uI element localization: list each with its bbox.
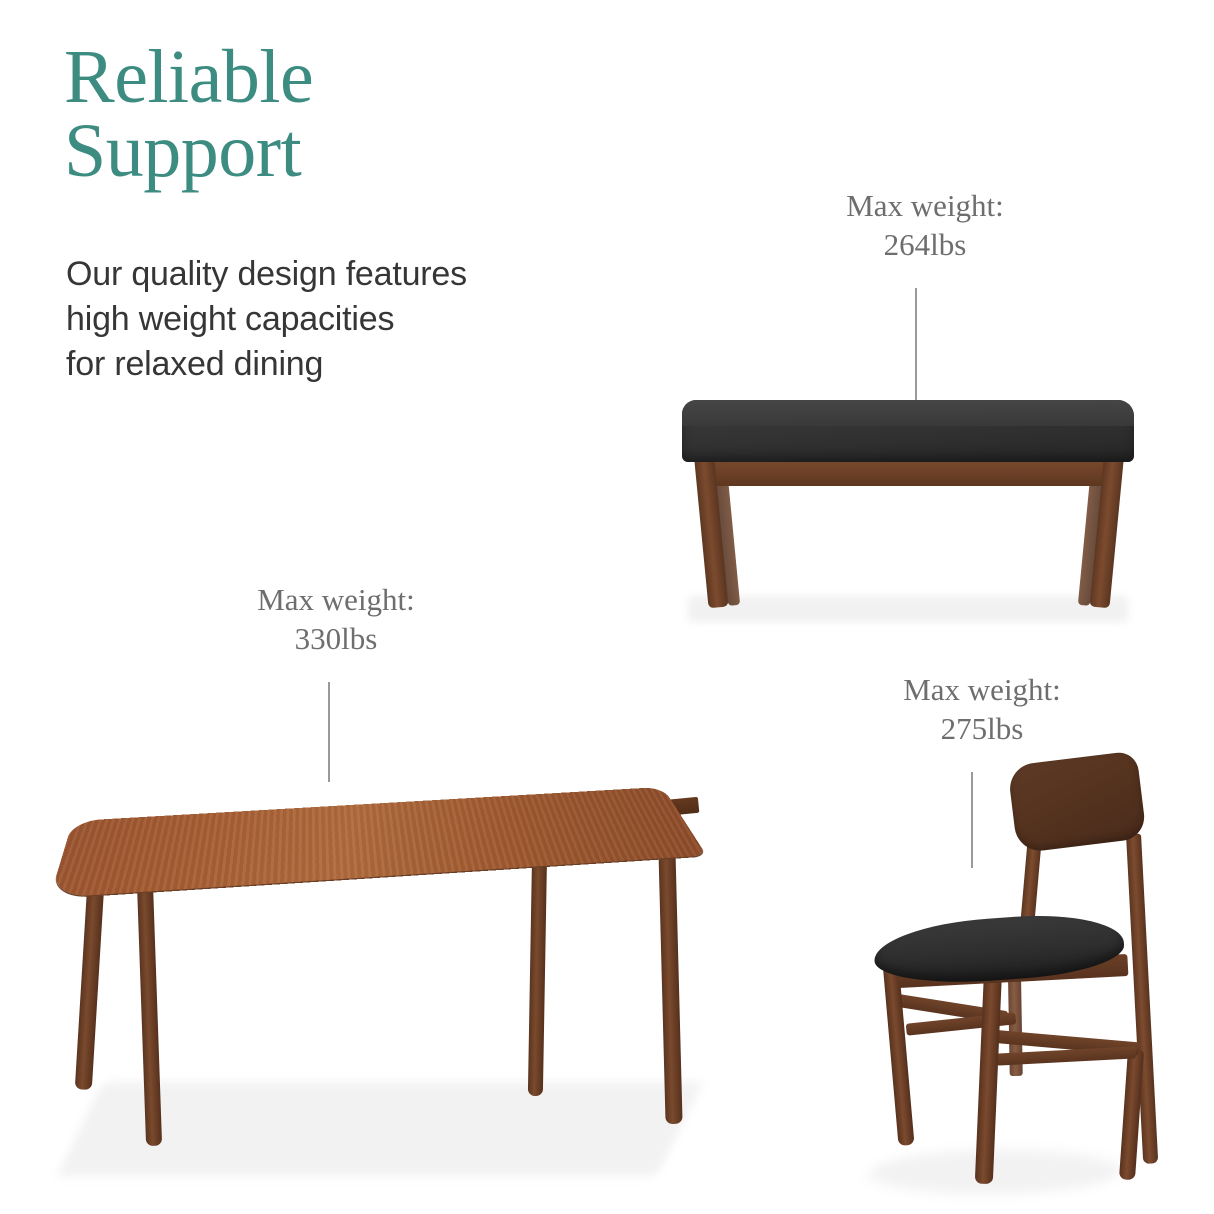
subcopy-line-1: Our quality design features [66, 252, 626, 297]
callout-chair: Max weight: 275lbs [842, 670, 1122, 748]
headline-line-2: Support [64, 114, 624, 188]
chair-back-panel [1007, 750, 1147, 853]
subcopy-line-3: for relaxed dining [66, 342, 626, 387]
product-image-table [40, 730, 740, 1160]
table-leg-front-right [658, 834, 683, 1124]
callout-chair-value: 275lbs [842, 709, 1122, 748]
callout-bench-label: Max weight: [846, 188, 1004, 223]
product-image-bench [660, 392, 1150, 624]
callout-bench-value: 264lbs [790, 225, 1060, 264]
table-leg-back-right [528, 858, 547, 1096]
callout-chair-label: Max weight: [903, 672, 1061, 707]
infographic-canvas: Reliable Support Our quality design feat… [0, 0, 1214, 1214]
bench-shadow [688, 596, 1128, 622]
bench-apron [700, 458, 1118, 486]
table-top-surface [50, 787, 707, 898]
page-title: Reliable Support [64, 40, 624, 189]
product-image-chair [860, 750, 1180, 1190]
callout-bench: Max weight: 264lbs [790, 186, 1060, 264]
bench-cushion [682, 400, 1134, 462]
subcopy-line-2: high weight capacities [66, 297, 626, 342]
callout-table-label: Max weight: [257, 582, 415, 617]
headline-line-1: Reliable [64, 35, 313, 119]
callout-table-value: 330lbs [196, 619, 476, 658]
leader-line-bench [915, 288, 917, 400]
chair-shadow [861, 1150, 1129, 1194]
subheading-text: Our quality design features high weight … [66, 252, 626, 388]
callout-table: Max weight: 330lbs [196, 580, 476, 658]
